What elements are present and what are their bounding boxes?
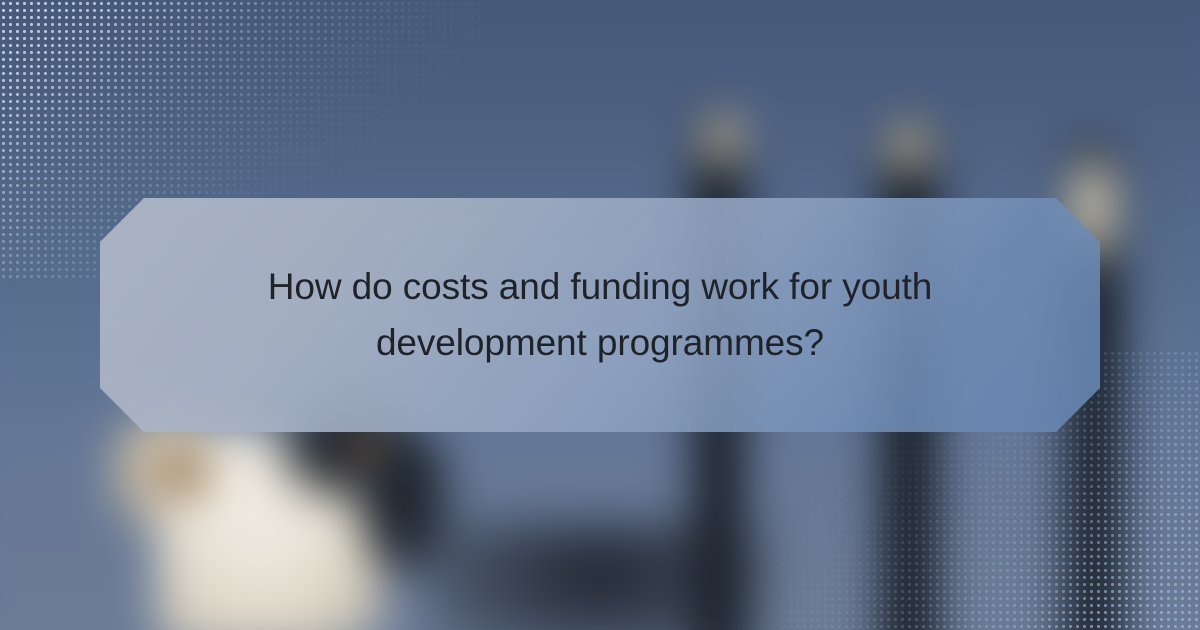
headline-card: How do costs and funding work for youth …: [100, 198, 1100, 432]
foreground-bottom-shadow: [430, 520, 770, 630]
background-pillar-cap-2: [886, 120, 932, 180]
page-title: How do costs and funding work for youth …: [220, 259, 980, 371]
background-pillar-cap-1: [700, 112, 746, 172]
foreground-figure-accent-left: [156, 446, 212, 498]
social-card-canvas: How do costs and funding work for youth …: [0, 0, 1200, 630]
